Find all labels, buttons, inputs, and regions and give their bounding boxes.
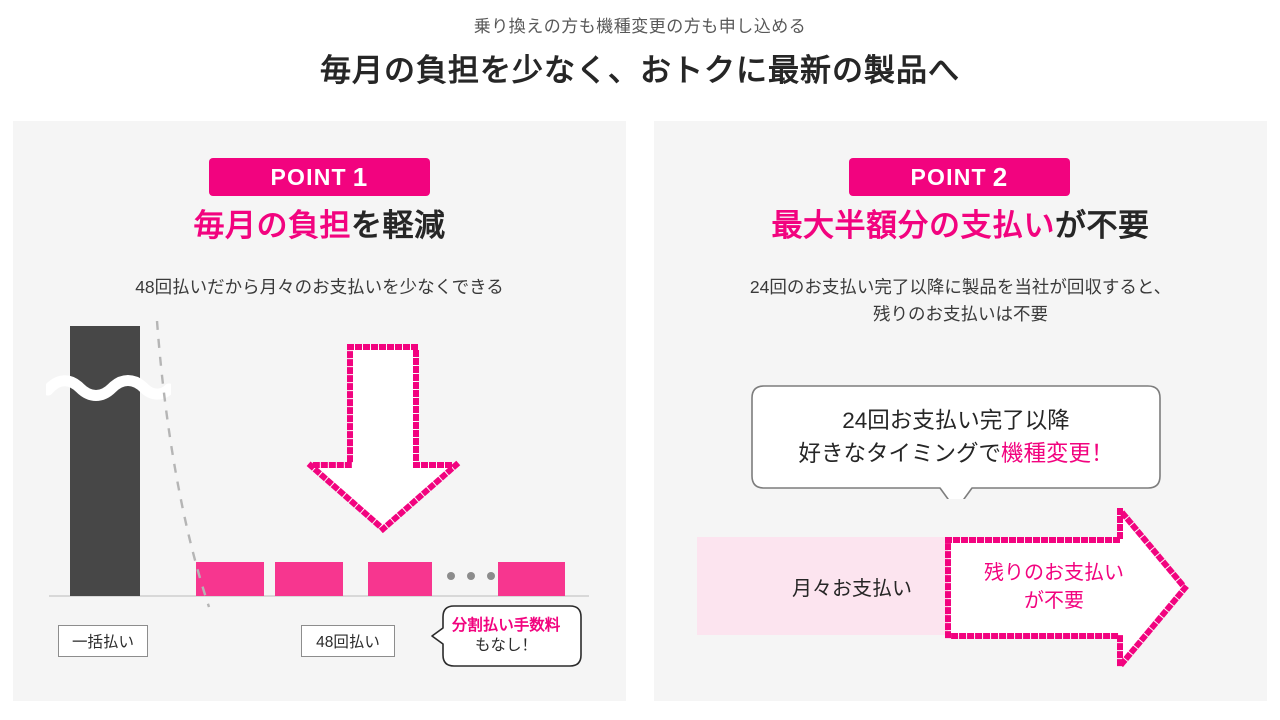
ellipsis-dots	[447, 571, 495, 581]
monthly-payment-label: 月々お支払い	[792, 572, 912, 601]
label-installment: 48回払い	[301, 625, 395, 657]
bar-lump-sum	[70, 326, 140, 596]
remaining-payment-line1: 残りのお支払い	[984, 559, 1124, 587]
fee-bubble-line1: 分割払い手数料	[452, 616, 561, 636]
point-2-subtitle-line1: 24回のお支払い完了以降に製品を当社が回収すると、	[654, 274, 1267, 301]
remaining-payment-line2: が不要	[1024, 587, 1084, 615]
fee-bubble-text: 分割払い手数料 もなし！	[430, 605, 582, 667]
header-eyebrow: 乗り換えの方も機種変更の方も申し込める	[0, 17, 1280, 37]
dot-3	[487, 572, 495, 580]
point-2-title: 最大半額分の支払いが不要	[654, 207, 1267, 246]
timing-bubble-line2: 好きなタイミングで機種変更！	[798, 438, 1113, 471]
timing-bubble-line2-highlight: 機種変更！	[1001, 441, 1114, 466]
timing-bubble-text: 24回お支払い完了以降 好きなタイミングで機種変更！	[750, 388, 1162, 488]
bar-installment-2	[275, 562, 343, 596]
point-1-card: POINT 1 毎月の負担を軽減 48回払いだから月々のお支払いを少なくできる	[13, 121, 626, 701]
page-title: 毎月の負担を少なく、おトクに最新の製品へ	[0, 52, 1280, 91]
dot-2	[467, 572, 475, 580]
dot-1	[447, 572, 455, 580]
promo-page: 乗り換えの方も機種変更の方も申し込める 毎月の負担を少なく、おトクに最新の製品へ…	[0, 0, 1280, 720]
point-2-badge-number: 2	[993, 164, 1009, 190]
remaining-payment-label: 残りのお支払い が不要	[954, 543, 1154, 631]
dashed-guide-line	[133, 321, 223, 611]
down-arrow-icon	[303, 343, 463, 533]
page-header: 乗り換えの方も機種変更の方も申し込める 毎月の負担を少なく、おトクに最新の製品へ	[0, 0, 1280, 91]
fee-bubble-line2: もなし！	[475, 636, 537, 656]
point-2-title-highlight: 最大半額分の支払い	[772, 208, 1056, 243]
point-2-card: POINT 2 最大半額分の支払いが不要 24回のお支払い完了以降に製品を当社が…	[654, 121, 1267, 701]
timing-bubble-line2-plain: 好きなタイミングで	[798, 441, 1001, 466]
point-2-badge-label: POINT	[911, 164, 987, 191]
label-lump-sum: 一括払い	[58, 625, 148, 657]
point-2-subtitle: 24回のお支払い完了以降に製品を当社が回収すると、 残りのお支払いは不要	[654, 274, 1267, 328]
timing-bubble-line1: 24回お支払い完了以降	[842, 405, 1070, 438]
bar-installment-3	[368, 562, 432, 596]
bar-installment-last	[498, 562, 565, 596]
fee-callout-bubble: 分割払い手数料 もなし！	[430, 605, 582, 667]
timing-callout-bubble: 24回お支払い完了以降 好きなタイミングで機種変更！	[750, 384, 1162, 499]
point-2-title-rest: が不要	[1055, 208, 1150, 243]
point-2-subtitle-line2: 残りのお支払いは不要	[654, 301, 1267, 328]
point-2-badge: POINT 2	[849, 158, 1070, 196]
